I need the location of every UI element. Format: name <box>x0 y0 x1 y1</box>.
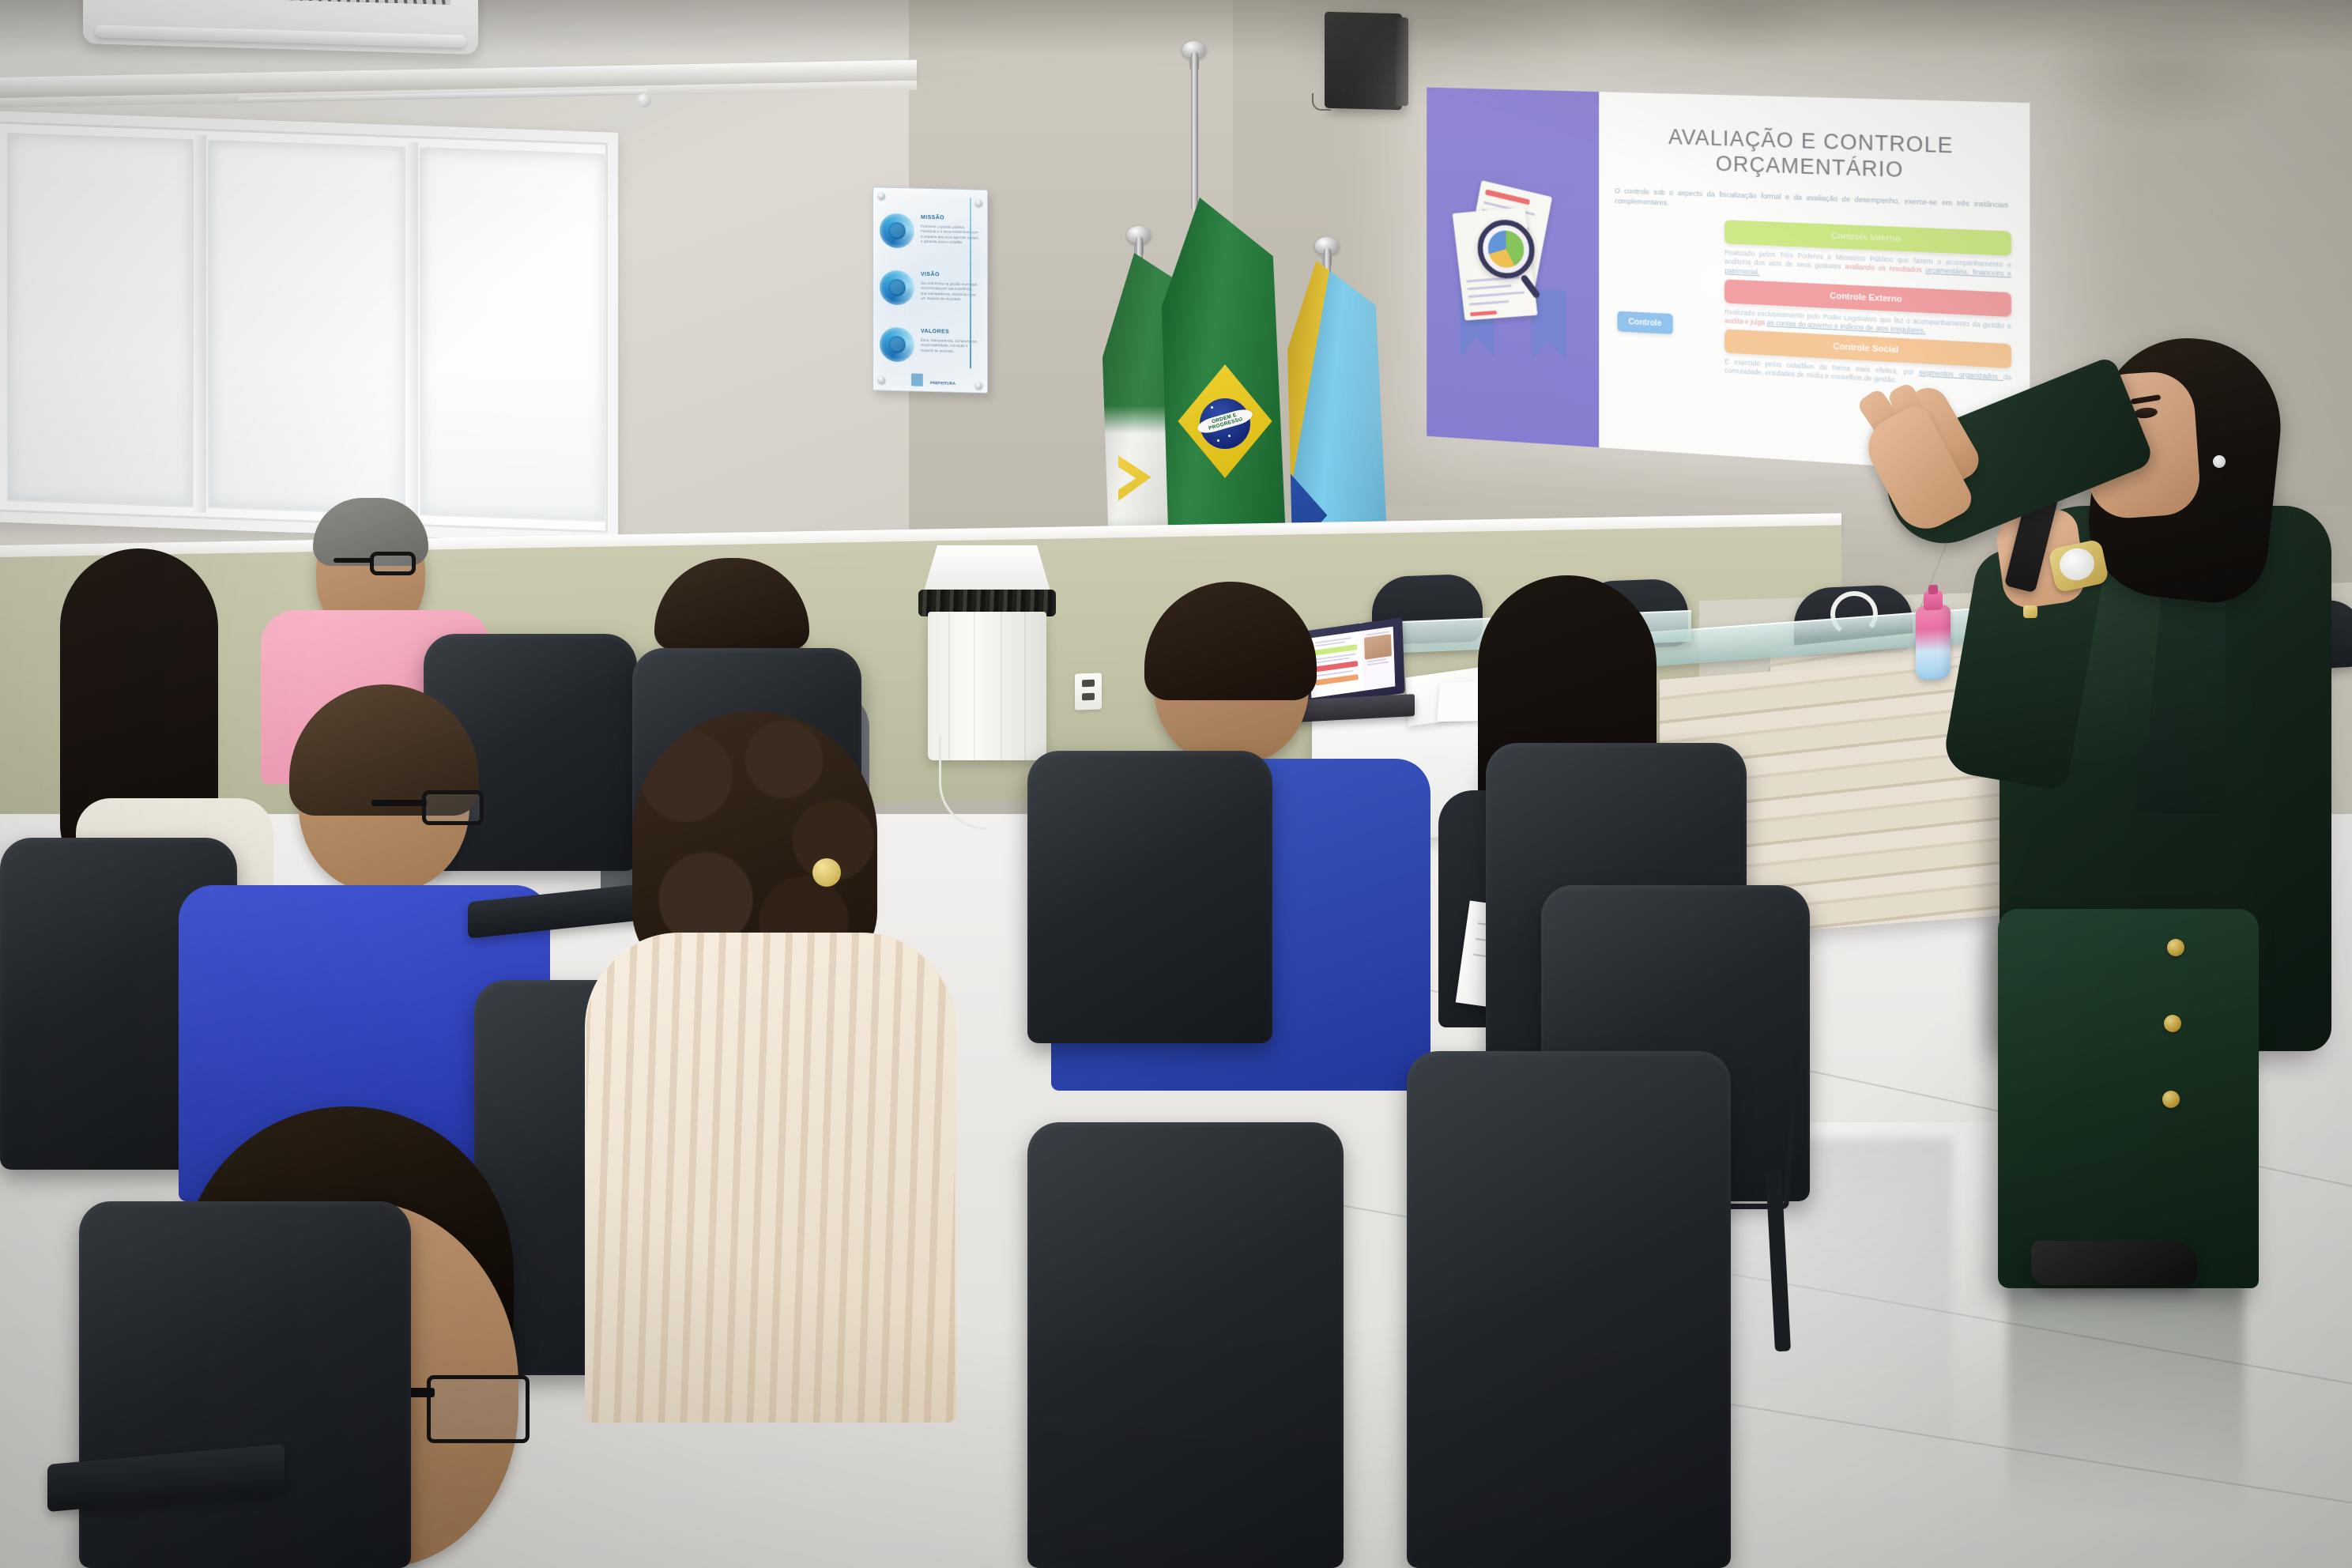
glasses-icon <box>370 552 416 575</box>
trash-bin <box>917 545 1057 760</box>
window <box>0 111 618 544</box>
audit-illustration-icon <box>1445 175 1581 359</box>
mission-vision-values-plaque: MISSÃO Promover a gestão pública, munici… <box>873 187 988 394</box>
wall-speaker-side <box>1396 17 1408 106</box>
plaque-screw-br <box>975 382 982 389</box>
plaque-row-values: VALORES Ética, transparência, compromiss… <box>878 322 982 379</box>
ring-icon <box>2023 605 2037 618</box>
body-highlight: audita e julga <box>1724 317 1766 327</box>
vision-icon <box>880 269 914 305</box>
blazer-button <box>2162 1091 2180 1108</box>
water-bottle[interactable] <box>1916 584 1951 680</box>
blazer-button <box>2164 1015 2181 1032</box>
plaque-body: Ética, transparência, compromisso, respo… <box>921 338 978 355</box>
plaque-heading: VALORES <box>921 329 949 335</box>
glasses-icon <box>422 790 484 825</box>
slide-title: AVALIAÇÃO E CONTROLE ORÇAMENTÁRIO <box>1615 123 2011 187</box>
plaque-screw-tl <box>878 192 885 199</box>
brazil-flag-star <box>1228 435 1231 437</box>
slide-right-column: Controle Interno Realizado pelos Três Po… <box>1724 217 2011 392</box>
chip-controle: Controle <box>1618 311 1672 334</box>
plaque-heading: MISSÃO <box>921 215 944 221</box>
glasses-arm <box>334 558 373 563</box>
window-mullion-2 <box>407 142 418 520</box>
slide-illustration-panel <box>1427 88 1599 448</box>
slide-left-column: Controle <box>1615 213 1718 375</box>
presenter-shoe <box>2031 1241 2197 1285</box>
plaque-screw-tr <box>975 199 982 206</box>
laptop-slide-left <box>1310 631 1363 698</box>
presenter-floor-reflection <box>2007 1280 2245 1517</box>
water-bottle-nozzle <box>1928 585 1938 595</box>
brazil-flag-star <box>1238 416 1240 418</box>
webcam-face-thumbnail <box>1364 634 1392 660</box>
earring-icon <box>2213 455 2226 468</box>
brazil-flag-star <box>1211 406 1213 409</box>
blazer-button <box>2167 939 2184 956</box>
plaque-heading: VISÃO <box>921 272 940 278</box>
attendee-top-texture <box>586 933 955 1423</box>
water-bottle-body <box>1916 605 1951 680</box>
glasses-icon <box>427 1375 530 1443</box>
slide-columns: Controle Controle Interno Realizado pelo… <box>1615 213 2011 392</box>
laptop-mirrored-slide <box>1310 627 1396 699</box>
flagpole-brazil <box>1191 52 1198 210</box>
wall-speaker-icon <box>1325 12 1402 111</box>
laptop-screen[interactable] <box>1310 627 1396 699</box>
chair[interactable] <box>1407 1051 1731 1568</box>
laptop-webcam-preview <box>1361 627 1395 691</box>
window-mullion-1 <box>195 134 206 512</box>
speaker-wire <box>1312 93 1331 111</box>
window-pane-left <box>7 133 194 507</box>
plaque-row-mission: MISSÃO Promover a gestão pública, munici… <box>878 208 982 266</box>
mission-icon <box>880 213 914 248</box>
curtain-rod-cap <box>637 93 651 107</box>
window-pane-right <box>420 147 606 522</box>
brazil-flag-star <box>1217 439 1219 442</box>
glasses-arm <box>371 800 427 806</box>
presentation-room-photo: MISSÃO Promover a gestão pública, munici… <box>0 0 2352 1568</box>
plaque-logo-text: PREFEITURA <box>930 381 955 386</box>
earring-icon <box>812 858 841 887</box>
plaque-screw-bl <box>878 376 885 383</box>
plaque-row-vision: VISÃO Ser referência na gestão municipal… <box>878 265 982 322</box>
chair[interactable] <box>1027 751 1272 1043</box>
plaque-body: Ser referência na gestão municipal, reco… <box>921 281 978 303</box>
window-pane-center <box>208 140 405 515</box>
chair[interactable] <box>1027 1122 1344 1568</box>
plaque-body: Promover a gestão pública, municipal e o… <box>921 224 978 246</box>
body-highlight: segmentos organizados <box>1919 368 2003 381</box>
presenter-skirt <box>1998 909 2259 1288</box>
wall-outlet <box>1075 673 1102 710</box>
values-icon <box>880 326 914 362</box>
chair[interactable] <box>79 1201 411 1568</box>
ribbon-right <box>1532 289 1566 363</box>
